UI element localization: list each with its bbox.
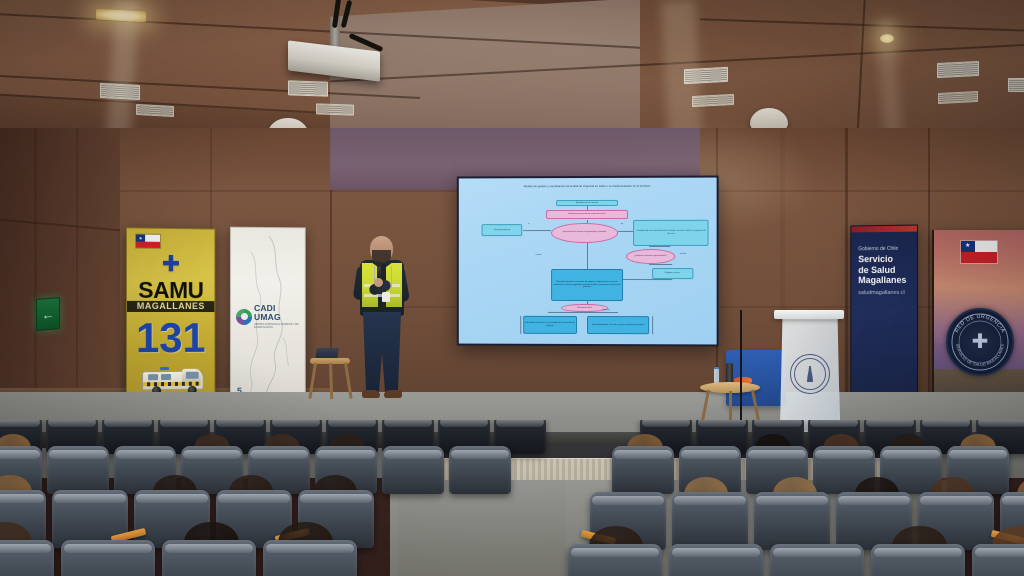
- audience-seat[interactable]: [871, 544, 965, 576]
- flowchart-edge-label: Retorno: [602, 309, 609, 311]
- flowchart-node: Coordinación con red asistencial, trasla…: [633, 219, 708, 246]
- red-de-urgencia-seal: RED DE URGENCIA SERVICIO DE SALUD MAGALL…: [946, 308, 1014, 376]
- recessed-downlight-icon: [880, 34, 894, 43]
- samu-subtitle: MAGALLANES: [127, 301, 214, 312]
- flowchart-node: Evaluación de criterios de gravedad y pr…: [551, 223, 618, 243]
- flowchart-node: Derivación directa: [482, 225, 523, 237]
- cadi-umag-banner: CADI UMAG CENTRO ASISTENCIAL DOCENTE Y D…: [230, 227, 306, 412]
- flowchart-connector: [618, 231, 634, 232]
- red-de-urgencia-banner: ★ RED DE URGENCIA SERVICIO DE SALUD MAGA…: [932, 230, 1024, 418]
- presenter-beard: [372, 250, 391, 263]
- audience-seat[interactable]: [754, 492, 830, 550]
- flowchart-node: Activación protocolo de respuesta inicia…: [546, 209, 628, 219]
- servicio-salud-banner: Gobierno de Chile Servicio de Salud Maga…: [850, 225, 918, 418]
- ssm-eyebrow: Gobierno de Chile: [858, 246, 898, 252]
- presenter-hand: [374, 278, 383, 287]
- audience-seat[interactable]: [449, 446, 511, 494]
- cadi-umag-subtitle: CENTRO ASISTENCIAL DOCENTE Y DE INVESTIG…: [254, 323, 300, 329]
- flowchart-node: Registro y cierre: [652, 268, 694, 280]
- thermos: [726, 363, 733, 384]
- samu-banner: ★ ✚ SAMU MAGALLANES 131: [126, 227, 215, 406]
- flowchart-connector: [584, 312, 618, 313]
- flowchart-connector: [587, 219, 588, 222]
- flowchart-connector: [649, 246, 670, 247]
- audience-seat[interactable]: [770, 544, 864, 576]
- flowchart-connector: [652, 316, 653, 334]
- cadi-umag-title: CADI UMAG: [254, 304, 300, 322]
- air-vent-icon: [100, 83, 140, 100]
- audience-seat[interactable]: [61, 540, 155, 576]
- flowchart-node: Indicadores de proceso y resultados de l…: [523, 316, 577, 334]
- banner-top-accent: [851, 226, 917, 233]
- audience-seating: [0, 420, 1024, 576]
- ssm-title: Servicio de Salud Magallanes: [858, 254, 906, 286]
- left-wall: [0, 128, 120, 428]
- chile-flag-icon: ★: [960, 240, 998, 264]
- flowchart-connector: [523, 230, 551, 231]
- air-vent-icon: [316, 103, 354, 115]
- chile-flag-icon: ★: [135, 233, 161, 248]
- audience-seat[interactable]: [669, 544, 763, 576]
- flowchart-connector: [587, 243, 588, 270]
- star-of-life-icon: ✚: [162, 253, 180, 275]
- flowchart-edge-label: No: [621, 223, 624, 225]
- flowchart-connector: [587, 206, 588, 209]
- audience-seat[interactable]: [672, 492, 748, 550]
- acrylic-podium: [780, 310, 838, 430]
- flowchart-node: Retroalimentación a la red y mejora cont…: [587, 316, 649, 334]
- audience-seat[interactable]: [972, 544, 1024, 576]
- podium-top: [774, 310, 844, 319]
- flowchart-connector: [587, 301, 588, 304]
- audience-seat[interactable]: [612, 446, 674, 494]
- podium-body: [780, 319, 840, 432]
- ssm-url: saludmagallanes.cl: [858, 290, 904, 296]
- samu-emergency-number: 131: [127, 317, 214, 359]
- air-vent-icon: [938, 91, 978, 104]
- audience-seat[interactable]: [47, 446, 109, 494]
- cadi-umag-logo: CADI UMAG CENTRO ASISTENCIAL DOCENTE Y D…: [236, 304, 300, 329]
- flowchart-connector: [623, 279, 672, 280]
- flowchart-edge-label: Deriva: [536, 254, 542, 256]
- audience-seat[interactable]: [263, 540, 357, 576]
- projected-slide: Modelo de gestión y coordinación de la R…: [459, 178, 717, 345]
- exit-sign: ←: [36, 297, 60, 331]
- slide-flowchart: Identificación del eventoActivación prot…: [459, 178, 717, 179]
- circular-ring-logo-icon: [236, 308, 252, 324]
- flowchart-edge-label: Evalúa: [680, 253, 686, 255]
- projection-screen: Modelo de gestión y coordinación de la R…: [457, 176, 719, 347]
- flowchart-node: ¿Requiere atención especializada?: [626, 249, 675, 264]
- microphone-icon: [377, 264, 381, 279]
- exit-arrow-icon: ←: [42, 307, 55, 321]
- slide-title: Modelo de gestión y coordinación de la R…: [495, 184, 681, 188]
- air-vent-icon: [136, 104, 174, 117]
- id-badge: [382, 292, 390, 302]
- auditorium-photo: ← Modelo de gestión y coordinación de la…: [0, 0, 1024, 576]
- ceiling: [0, 0, 1024, 146]
- flowchart-connector: [548, 312, 584, 313]
- audience-seat[interactable]: [162, 540, 256, 576]
- audience-seat[interactable]: [382, 446, 444, 494]
- presenter: [352, 236, 412, 404]
- samu-title: SAMU: [127, 279, 214, 302]
- air-vent-icon: [692, 94, 734, 107]
- air-vent-icon: [684, 67, 728, 84]
- flowchart-connector: [649, 264, 672, 265]
- presenter-shoe: [384, 390, 402, 398]
- audience-seat[interactable]: [0, 540, 54, 576]
- flowchart-connector: [520, 316, 521, 334]
- seal-ring-text: RED DE URGENCIA SERVICIO DE SALUD MAGALL…: [948, 310, 1012, 374]
- wooden-stool: [310, 358, 350, 402]
- flowchart-node: Protocolo operativo: activación de equip…: [551, 269, 623, 301]
- flowchart-edge-label: Sí: [528, 223, 530, 225]
- air-vent-icon: [1008, 78, 1024, 92]
- presenter-shoe: [362, 390, 380, 398]
- presenter-legs: [363, 312, 401, 392]
- air-vent-icon: [937, 61, 979, 78]
- audience-seat[interactable]: [568, 544, 662, 576]
- flowchart-node: Evaluación final: [561, 304, 607, 312]
- air-vent-icon: [288, 80, 328, 96]
- university-seal-icon: [790, 354, 830, 394]
